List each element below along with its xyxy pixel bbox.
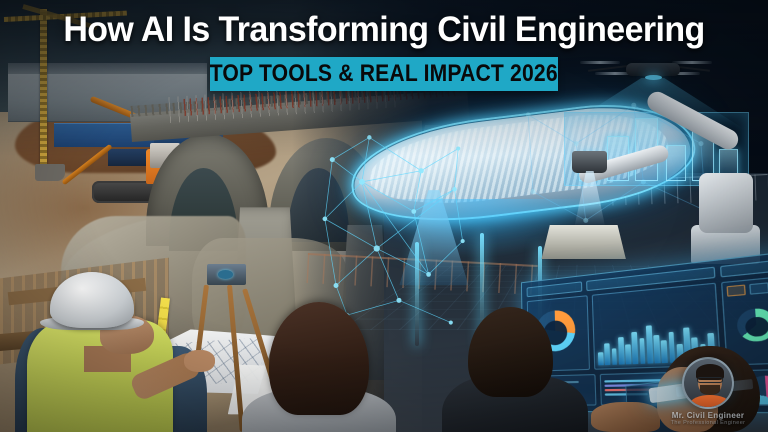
theodolite-lens: [218, 270, 233, 279]
avatar: [682, 357, 734, 409]
avatar-beard: [700, 385, 720, 395]
robot-arm-joint: [699, 173, 753, 233]
subtitle-text: TOP TOOLS & REAL IMPACT 2026: [210, 60, 558, 88]
woman-engineer-hair: [269, 302, 369, 414]
channel-name: Mr. Civil Engineer: [660, 411, 756, 420]
3d-printed-concrete-block: [541, 225, 625, 260]
channel-tagline: The Professional Engineer: [660, 420, 756, 426]
kpi-gauge: [726, 284, 746, 296]
subtitle-banner: TOP TOOLS & REAL IMPACT 2026: [210, 57, 558, 91]
surveyor-hand: [184, 350, 215, 372]
glasses-icon: [697, 377, 723, 383]
dashboard-chip: [527, 281, 583, 297]
kpi-gauge: [749, 282, 768, 295]
avatar-shirt: [690, 395, 730, 409]
thumbnail-canvas: How AI Is Transforming Civil Engineering…: [0, 0, 768, 432]
kpi-row: [726, 280, 768, 297]
page-title: How AI Is Transforming Civil Engineering: [12, 12, 757, 49]
ar-engineer-hand: [591, 402, 660, 432]
dashboard-chip: [720, 257, 768, 277]
donut-hole: [745, 316, 768, 337]
channel-watermark: Mr. Civil Engineer The Professional Engi…: [660, 357, 756, 426]
